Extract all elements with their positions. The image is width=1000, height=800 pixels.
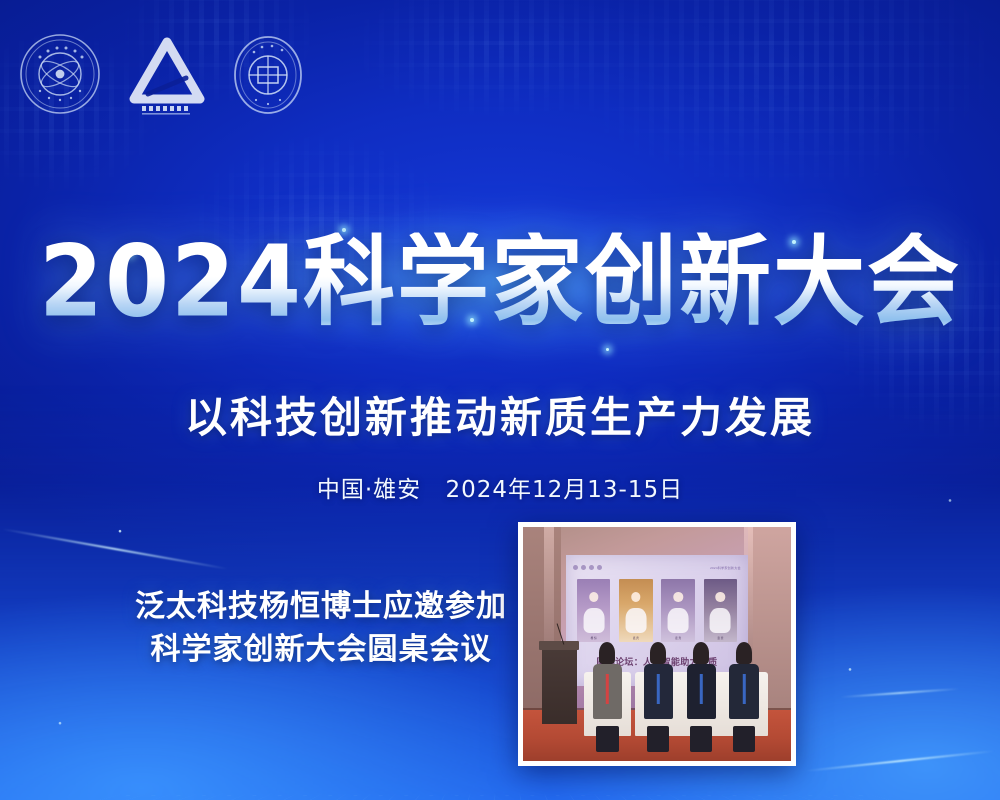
logo-conference-triangle-mark (128, 32, 206, 121)
photo-panelist-legs (596, 726, 618, 753)
photo-podium-top (539, 641, 579, 651)
photo-screen-portraits: 杨 恒 嘉 宾 嘉 宾 嘉 宾 (577, 579, 737, 642)
photo-panelist-hair (650, 642, 666, 663)
photo-caption: 泛太科技杨恒博士应邀参加 科学家创新大会圆桌会议 (128, 586, 514, 671)
portrait-card: 嘉 宾 (661, 579, 695, 642)
event-photo-frame: 2024科学家创新大会 杨 恒 嘉 宾 (518, 522, 796, 766)
caption-line-2: 科学家创新大会圆桌会议 (128, 629, 514, 672)
photo-panelist-badge (700, 674, 702, 704)
screen-icon-4 (597, 565, 602, 570)
photo-screen-brand: 2024科学家创新大会 (710, 565, 741, 570)
portrait-body (668, 608, 689, 633)
portrait-name: 杨 恒 (577, 636, 611, 640)
screen-icon-1 (573, 565, 578, 570)
logo-partner-oval-seal (232, 32, 304, 121)
photo-panelist (641, 644, 676, 733)
portrait-head (673, 592, 682, 601)
portrait-body (625, 608, 646, 633)
spark-5 (606, 348, 609, 351)
event-meta: 中国·雄安 2024年12月13-15日 (0, 470, 1000, 504)
page-title: 2024科学家创新大会 (39, 232, 961, 331)
photo-panelist-badge (743, 674, 745, 704)
photo-panelist-legs (733, 726, 755, 753)
portrait-name: 嘉 宾 (704, 636, 738, 640)
photo-panelist-hair (736, 642, 752, 663)
photo-panelist-hair (599, 642, 615, 663)
photo-screen-header: 2024科学家创新大会 (573, 562, 741, 574)
caption-line-1: 泛太科技杨恒博士应邀参加 (128, 586, 514, 629)
portrait-head (716, 592, 725, 601)
portrait-head (589, 592, 598, 601)
photo-panelist-badge (606, 674, 608, 704)
logo-china-association-science-technology-seal (18, 32, 102, 121)
event-date: 2024年12月13-15日 (445, 477, 683, 503)
screen-icon-2 (581, 565, 586, 570)
portrait-body (583, 608, 604, 633)
photo-podium (542, 644, 577, 724)
event-location: 中国·雄安 (317, 477, 421, 503)
portrait-head (631, 592, 640, 601)
photo-screen-icon-row (573, 565, 602, 570)
photo-panelist-hair (693, 642, 709, 663)
photo-panelist-legs (690, 726, 712, 753)
portrait-card: 嘉 宾 (704, 579, 738, 642)
portrait-card: 杨 恒 (577, 579, 611, 642)
event-photo: 2024科学家创新大会 杨 恒 嘉 宾 (523, 527, 791, 761)
portrait-name: 嘉 宾 (619, 636, 653, 640)
photo-panelist (727, 644, 762, 733)
logo-row (18, 32, 304, 121)
portrait-card: 嘉 宾 (619, 579, 653, 642)
photo-panelist (590, 644, 625, 733)
subtitle: 以科技创新推动新质生产力发展 (0, 384, 1000, 445)
headline-container: 2024科学家创新大会 (0, 236, 1000, 328)
portrait-body (710, 608, 731, 633)
photo-panelist-legs (647, 726, 669, 753)
screen-icon-3 (589, 565, 594, 570)
conference-poster: 2024科学家创新大会 以科技创新推动新质生产力发展 中国·雄安 2024年12… (0, 0, 1000, 800)
photo-panelist-badge (657, 674, 659, 704)
photo-panelist (684, 644, 719, 733)
portrait-name: 嘉 宾 (661, 636, 695, 640)
